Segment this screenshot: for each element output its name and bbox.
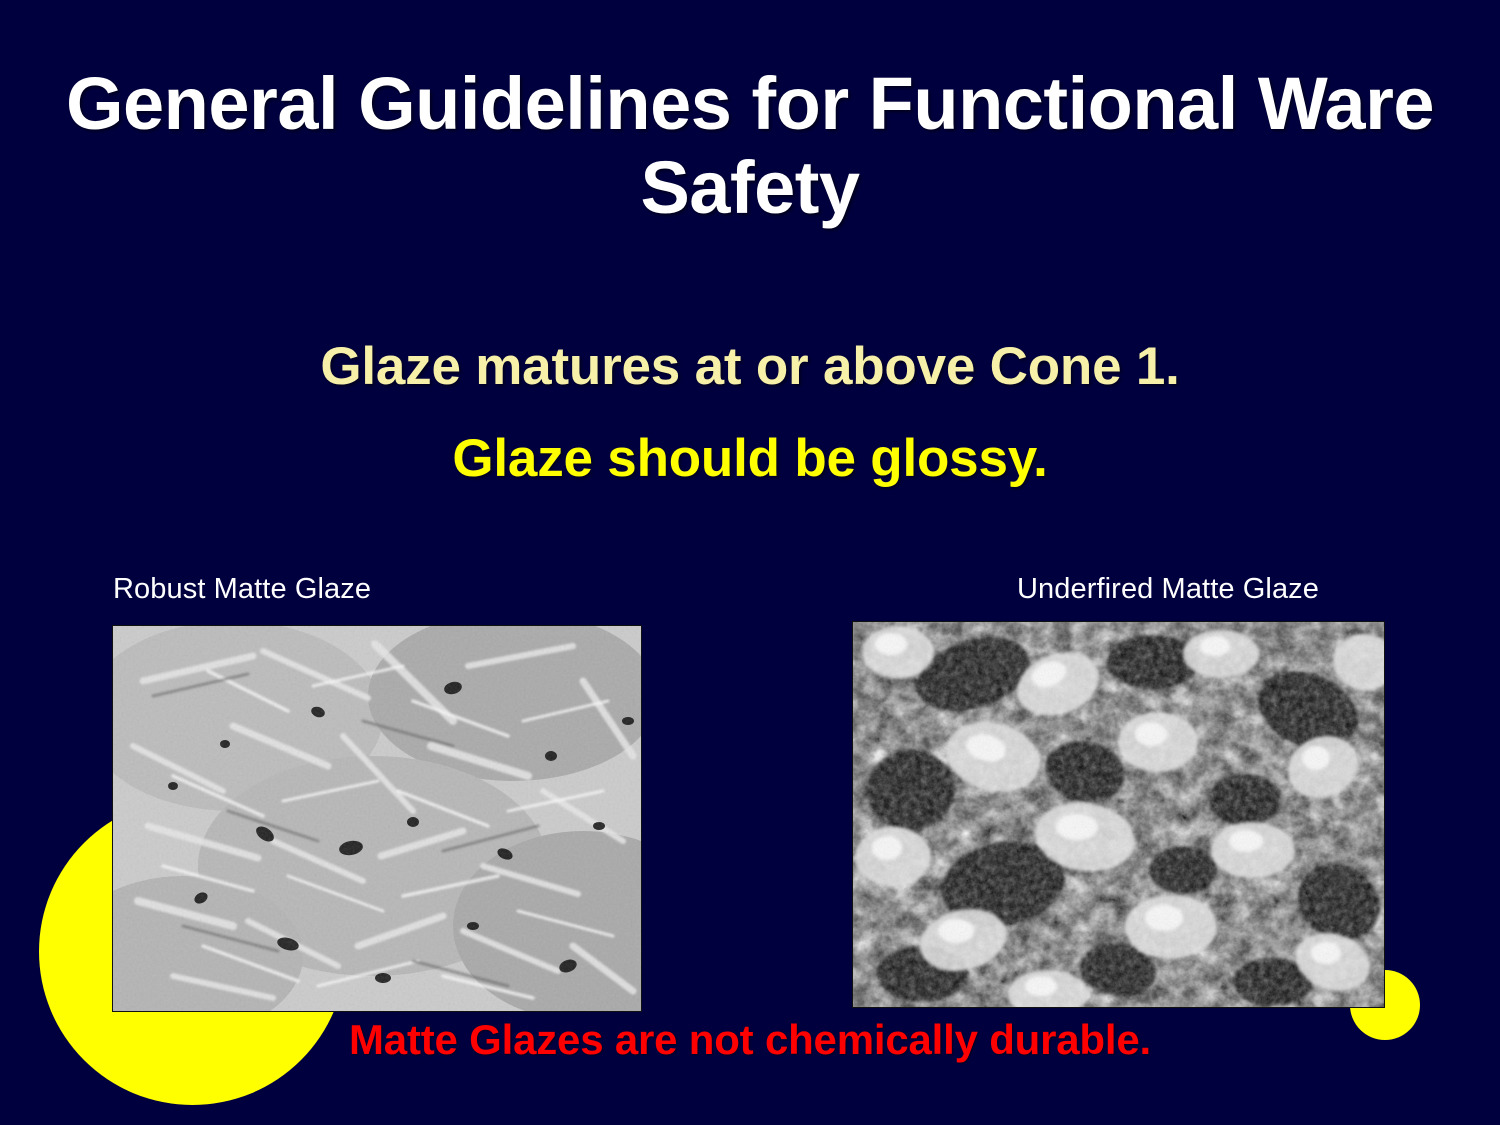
page-title: General Guidelines for Functional Ware S… [60,62,1440,231]
sem-robust-graphic [113,626,641,1011]
subtitle-line-1: Glaze matures at or above Cone 1. [60,336,1440,397]
subtitle-line-2: Glaze should be glossy. [60,428,1440,489]
sem-image-underfired-matte-glaze [852,621,1385,1008]
figure-caption-robust-matte-glaze: Robust Matte Glaze [113,573,371,606]
slide-canvas: General Guidelines for Functional Ware S… [0,0,1500,1125]
sem-image-robust-matte-glaze [112,625,642,1012]
warning-text: Matte Glazes are not chemically durable. [60,1016,1440,1064]
subtitle-block: Glaze matures at or above Cone 1. Glaze … [60,336,1440,490]
figure-caption-underfired-matte-glaze: Underfired Matte Glaze [1017,573,1319,606]
sem-underfired-graphic [853,622,1384,1007]
